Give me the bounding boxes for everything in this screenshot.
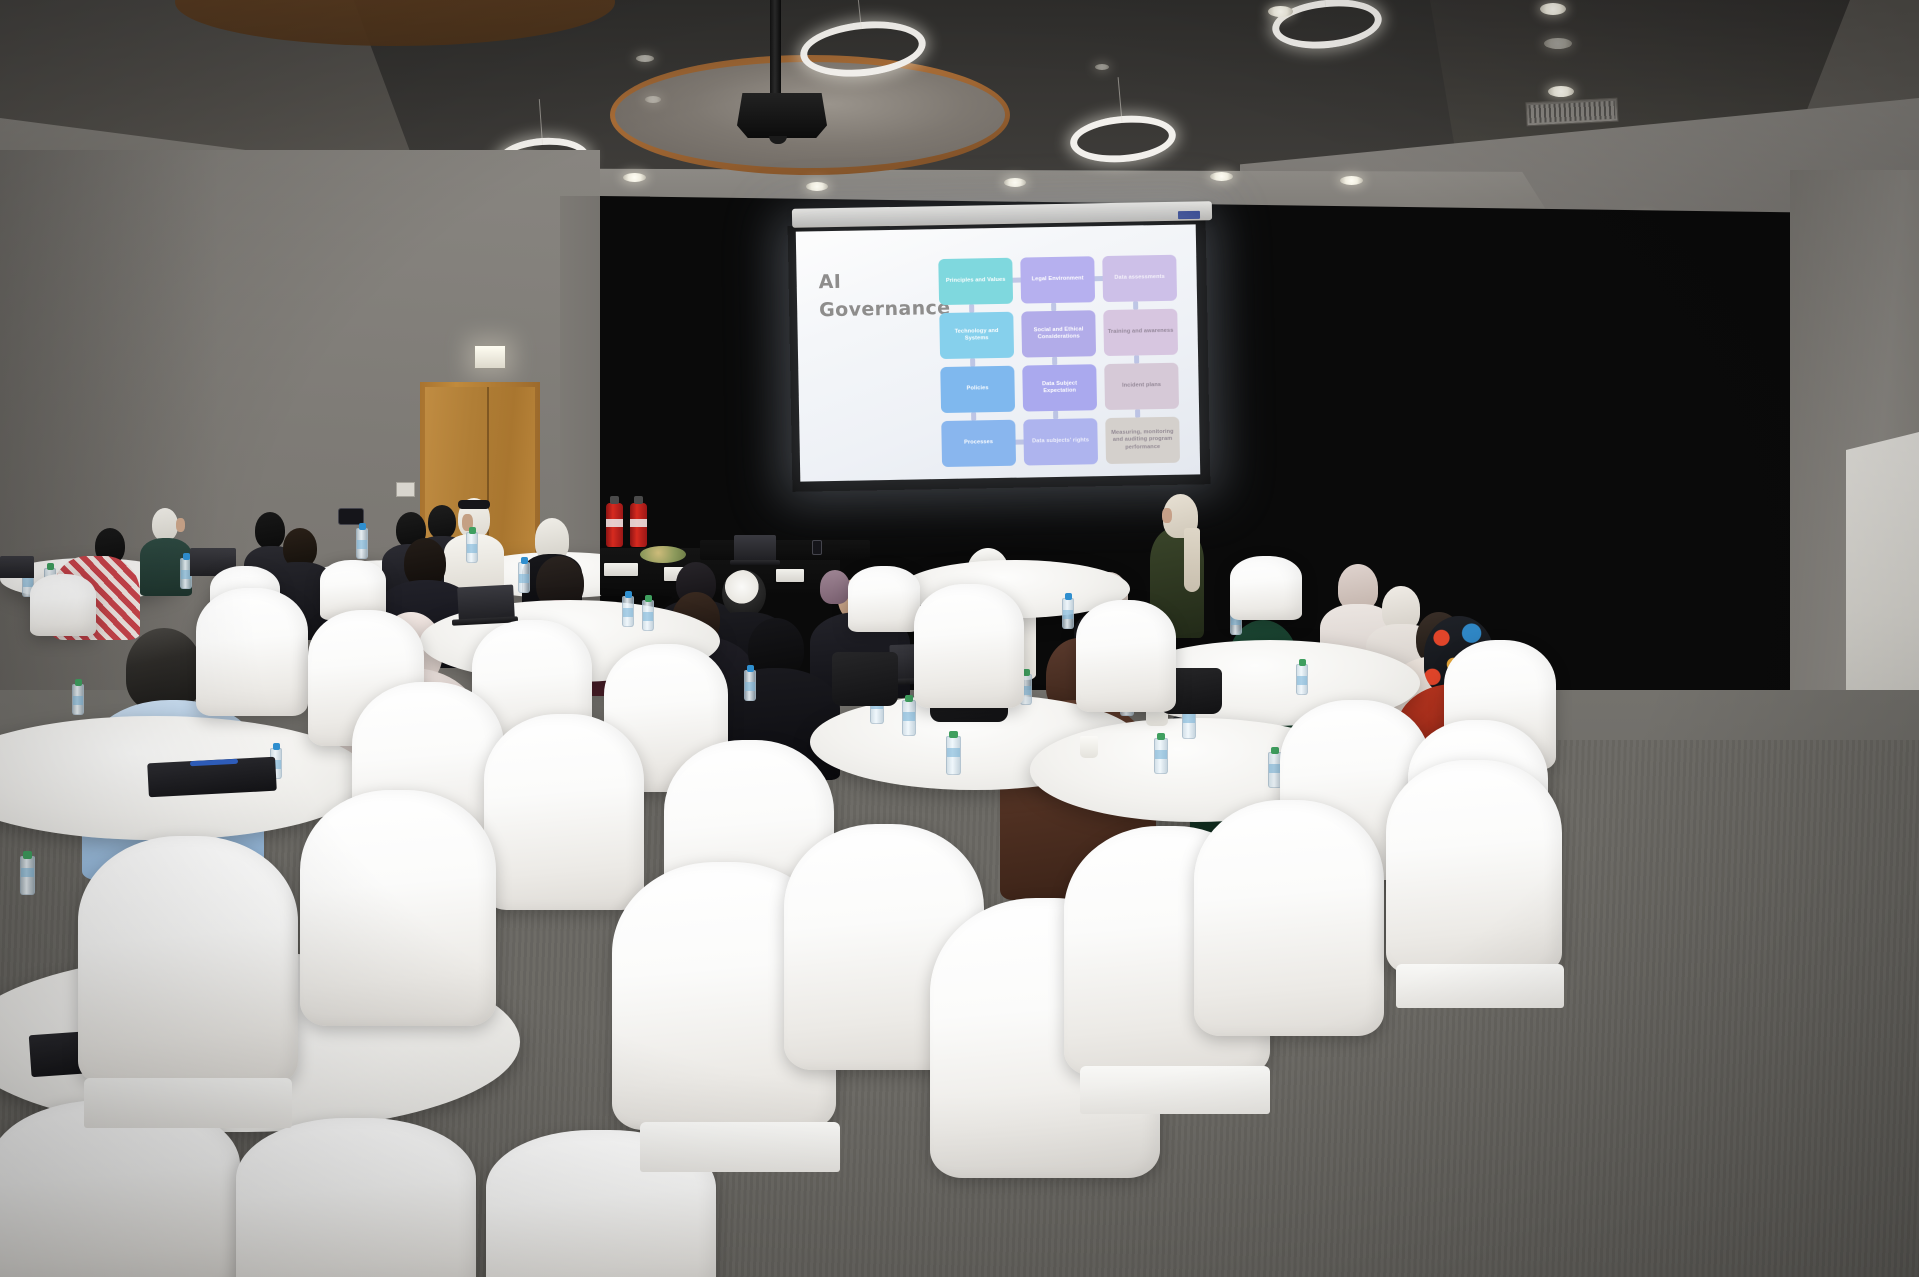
wall-sconce-icon: [474, 345, 506, 369]
water-bottle: [518, 562, 530, 593]
chair-skirt: [1396, 964, 1564, 1008]
water-bottle: [1062, 598, 1074, 629]
fire-extinguisher-label: [630, 519, 647, 527]
chair[interactable]: [914, 584, 1024, 708]
downlight-icon: [1268, 6, 1293, 17]
attendee-mauve-hijab: [820, 570, 850, 604]
bottle-cap: [1065, 593, 1072, 600]
light-switch-icon[interactable]: [396, 482, 415, 497]
paper-cup: [1080, 736, 1098, 758]
diagram-box: Legal Environment: [1020, 256, 1095, 303]
name-placard: [604, 563, 638, 576]
chair[interactable]: [848, 566, 920, 632]
projection-screen: AI Governance Principles and Values Lega…: [796, 224, 1201, 481]
downlight-icon: [645, 96, 661, 103]
fire-extinguisher-icon: [630, 503, 647, 547]
downlight-icon: [623, 173, 646, 182]
chair[interactable]: [300, 790, 496, 1026]
bottle-label: [357, 540, 367, 549]
bottle-cap: [625, 591, 632, 598]
bottle-cap: [949, 731, 958, 738]
water-bottle: [946, 736, 961, 775]
bottle-cap: [273, 743, 280, 750]
chair-skirt: [1080, 1066, 1270, 1114]
diagram-box: Data assessments: [1102, 255, 1177, 302]
conference-room-photo: AI Governance Principles and Values Lega…: [0, 0, 1919, 1277]
bottle-cap: [183, 553, 190, 560]
ai-governance-diagram: Principles and Values Legal Environment …: [938, 255, 1184, 469]
slide-title-line2: Governance: [819, 295, 939, 325]
diagram-box: Data Subject Expectation: [1022, 364, 1097, 411]
bottle-cap: [23, 851, 32, 859]
water-bottle: [744, 670, 756, 701]
downlight-icon: [1544, 38, 1572, 49]
name-placard: [776, 569, 804, 582]
diagram-box: Technology and Systems: [939, 312, 1014, 359]
bottle-label: [1063, 610, 1073, 619]
bottle-label: [745, 682, 755, 691]
laptop-screen: [734, 535, 776, 560]
bottle-cap: [905, 695, 913, 702]
bottle-label: [73, 696, 83, 705]
fire-extinguisher-icon: [606, 503, 623, 547]
water-bottle: [1154, 738, 1168, 774]
attendee-head: [255, 512, 285, 549]
water-bottle: [356, 528, 368, 559]
attendee-polka-dot-hijab: [722, 570, 766, 618]
downlight-icon: [1548, 86, 1574, 97]
bottle-label: [467, 544, 477, 553]
bottle-cap: [1157, 733, 1165, 740]
projector-icon: [737, 93, 827, 138]
diagram-box: Principles and Values: [938, 258, 1013, 305]
bottle-label: [643, 612, 653, 621]
diagram-box: Training and awareness: [1103, 309, 1178, 356]
floral-centerpiece: [640, 546, 686, 563]
water-bottle: [20, 856, 35, 895]
whiteboard-panel: [1846, 432, 1919, 732]
attendee-agal: [458, 500, 490, 509]
downlight-icon: [1210, 172, 1233, 181]
downlight-icon: [806, 182, 828, 191]
bottle-label: [623, 608, 633, 617]
laptop-screen[interactable]: [0, 556, 34, 578]
water-bottle: [642, 600, 654, 631]
bottle-label: [903, 712, 915, 721]
air-vent-icon: [1525, 98, 1618, 127]
presenter-face: [1162, 508, 1172, 523]
bottle-cap: [47, 563, 54, 570]
screen-brand-logo: [1178, 211, 1200, 219]
fire-extinguisher-label: [606, 519, 623, 527]
chair[interactable]: [1194, 800, 1384, 1036]
bottle-cap: [645, 595, 652, 602]
water-bottle: [622, 596, 634, 627]
bottle-cap: [747, 665, 754, 672]
bottle-label: [1155, 750, 1167, 759]
water-bottle: [72, 684, 84, 715]
downlight-icon: [1004, 178, 1026, 187]
chair[interactable]: [484, 714, 644, 910]
downlight-icon: [1340, 176, 1363, 185]
slide-title: AI Governance: [818, 267, 939, 324]
chair[interactable]: [1386, 760, 1562, 974]
diagram-box: Measuring, monitoring and auditing progr…: [1105, 417, 1180, 464]
bottle-cap: [521, 557, 528, 564]
attendee-face: [176, 518, 185, 532]
bottle-label: [947, 748, 960, 757]
slide-title-line1: AI: [818, 267, 938, 297]
projector-mount-pole: [770, 0, 781, 96]
bottle-label: [21, 868, 34, 877]
laptop-base: [730, 560, 780, 565]
handbag: [832, 652, 898, 706]
attendee-grey-hair: [126, 628, 202, 710]
diagram-box: Processes: [941, 420, 1016, 467]
air-vent-slats: [1529, 101, 1616, 123]
bottle-cap: [469, 527, 476, 534]
bottle-label: [1297, 676, 1307, 685]
chair-skirt: [640, 1122, 840, 1172]
presenter-scarf-drape: [1184, 528, 1200, 592]
chair[interactable]: [236, 1118, 476, 1277]
phone-icon: [812, 540, 822, 555]
bottle-label: [519, 574, 529, 583]
diagram-box: Social and Ethical Considerations: [1021, 310, 1096, 357]
bottle-cap: [1271, 747, 1279, 754]
slide-content: AI Governance Principles and Values Lega…: [796, 224, 1201, 481]
chair[interactable]: [1230, 556, 1302, 620]
chair[interactable]: [196, 588, 308, 716]
diagram-box: Incident plans: [1104, 363, 1179, 410]
chair[interactable]: [78, 836, 298, 1086]
diagram-box: Policies: [940, 366, 1015, 413]
downlight-icon: [1095, 64, 1109, 70]
downlight-icon: [636, 55, 654, 62]
water-bottle: [1296, 664, 1308, 695]
water-bottle: [902, 700, 916, 736]
chair[interactable]: [1076, 600, 1176, 712]
chair[interactable]: [30, 574, 96, 636]
bottle-label: [1183, 714, 1195, 723]
head-table-top: [700, 540, 870, 560]
diagram-box: Data subjects' rights: [1023, 418, 1098, 465]
bottle-cap: [1299, 659, 1306, 666]
attendee-head: [428, 505, 456, 539]
attendee-white-hijab: [152, 508, 178, 541]
downlight-icon: [1540, 3, 1566, 15]
bottle-cap: [359, 523, 366, 530]
bottle-cap: [75, 679, 82, 686]
chair-skirt: [84, 1078, 292, 1128]
water-bottle: [466, 532, 478, 563]
bottle-label: [23, 578, 33, 587]
